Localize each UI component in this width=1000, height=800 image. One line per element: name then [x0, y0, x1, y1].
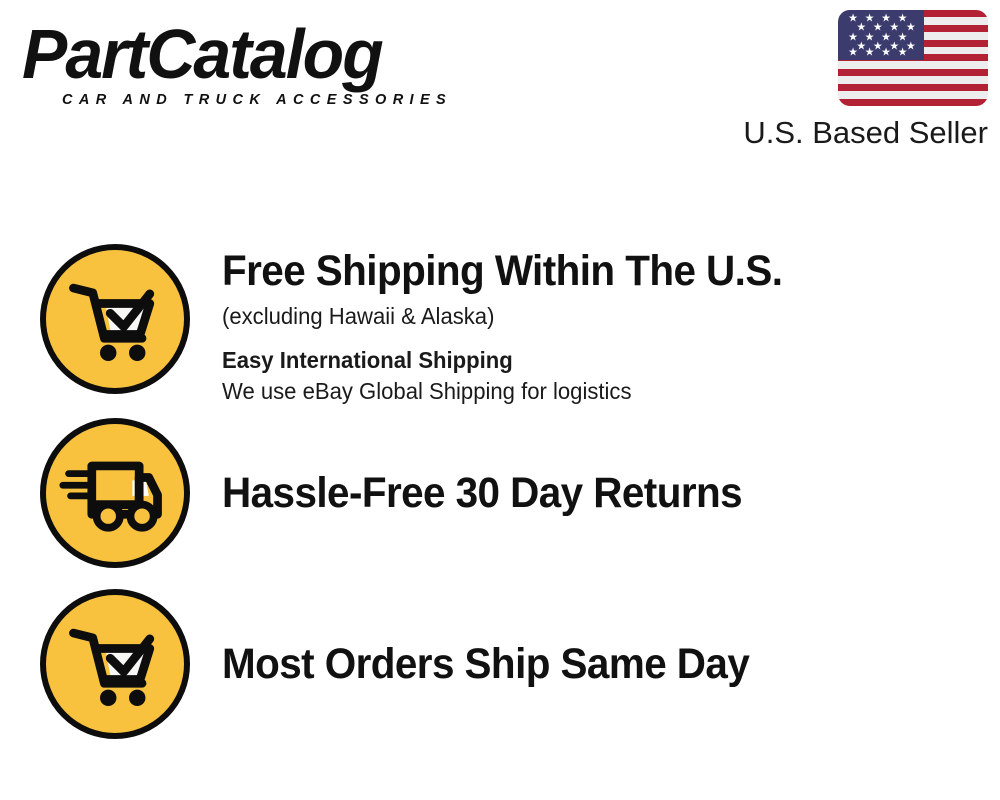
- feature-row: Most Orders Ship Same Day: [40, 589, 980, 739]
- us-flag-icon: ★ ★ ★ ★ ★ ★ ★ ★ ★ ★ ★ ★ ★ ★ ★ ★ ★ ★ ★ ★: [838, 10, 988, 106]
- brand-wordmark: PartCatalog: [22, 18, 478, 90]
- feature-text-block: Free Shipping Within The U.S. (excluding…: [190, 244, 980, 406]
- feature-text-block: Most Orders Ship Same Day: [190, 639, 980, 689]
- seller-info-banner: PartCatalog CAR AND TRUCK ACCESSORIES ★ …: [0, 0, 1000, 800]
- feature-title: Free Shipping Within The U.S.: [222, 246, 935, 296]
- us-based-seller-label: U.S. Based Seller: [688, 115, 988, 151]
- brand-logo: PartCatalog CAR AND TRUCK ACCESSORIES: [22, 18, 492, 118]
- brand-tagline: CAR AND TRUCK ACCESSORIES: [62, 92, 492, 108]
- feature-row: Hassle-Free 30 Day Returns: [40, 418, 980, 568]
- feature-subtitle: (excluding Hawaii & Alaska): [222, 301, 950, 331]
- feature-title: Most Orders Ship Same Day: [222, 639, 935, 689]
- us-based-seller-block: ★ ★ ★ ★ ★ ★ ★ ★ ★ ★ ★ ★ ★ ★ ★ ★ ★ ★ ★ ★ …: [688, 10, 988, 151]
- delivery-truck-icon: [40, 418, 190, 568]
- feature-text-block: Hassle-Free 30 Day Returns: [190, 468, 980, 518]
- feature-subtitle-detail: We use eBay Global Shipping for logistic…: [222, 376, 950, 406]
- feature-title: Hassle-Free 30 Day Returns: [222, 468, 935, 518]
- shopping-cart-check-icon: [40, 589, 190, 739]
- feature-row: Free Shipping Within The U.S. (excluding…: [40, 244, 980, 406]
- feature-subtitle-strong: Easy International Shipping: [222, 345, 950, 375]
- shopping-cart-check-icon: [40, 244, 190, 394]
